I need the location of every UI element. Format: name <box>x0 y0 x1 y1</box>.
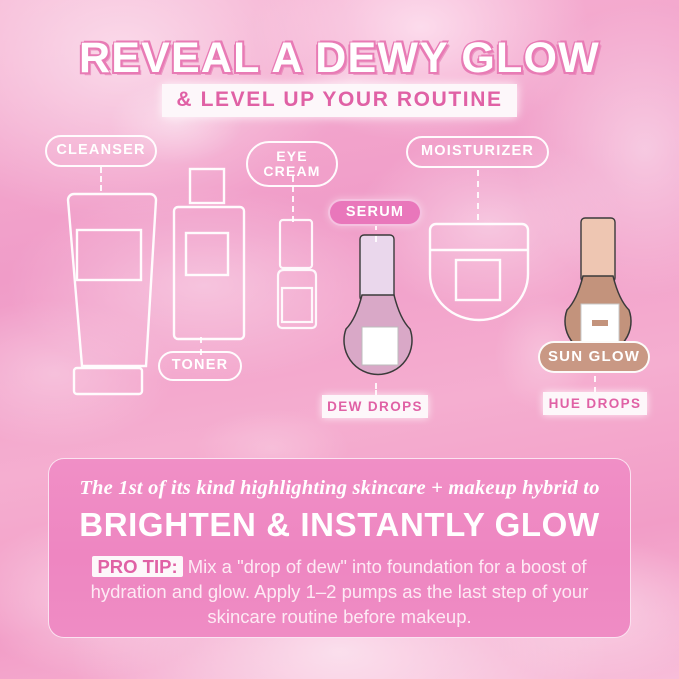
card-body: PRO TIP: Mix a "drop of dew" into founda… <box>75 555 604 629</box>
label-cleanser[interactable]: CLEANSER <box>45 135 157 167</box>
banner-hue-drops-text: HUE DROPS <box>549 396 642 411</box>
label-moisturizer-text: MOISTURIZER <box>421 144 534 159</box>
product-toner-bottle <box>168 167 254 347</box>
card-headline: BRIGHTEN & INSTANTLY GLOW <box>75 506 604 544</box>
label-moisturizer[interactable]: MOISTURIZER <box>406 136 549 168</box>
banner-dew-drops-text: DEW DROPS <box>327 399 423 414</box>
pro-tip-badge: PRO TIP: <box>92 556 182 577</box>
label-toner[interactable]: TONER <box>158 351 242 381</box>
connector-serum <box>375 224 377 242</box>
connector-hue-drops <box>594 376 596 393</box>
label-serum[interactable]: SERUM <box>328 199 422 226</box>
page-title: REVEAL A DEWY GLOW <box>0 34 679 83</box>
product-dew-drops-bottle <box>326 233 434 385</box>
poster-canvas: REVEAL A DEWY GLOW & LEVEL UP YOUR ROUTI… <box>0 0 679 679</box>
card-tagline: The 1st of its kind highlighting skincar… <box>75 477 604 500</box>
product-eye-cream-bottle <box>268 218 330 332</box>
page-subtitle: & LEVEL UP YOUR ROUTINE <box>162 84 516 117</box>
product-hue-drops-bottle <box>550 216 650 356</box>
label-sun-glow-text: SUN GLOW <box>548 349 640 365</box>
banner-hue-drops[interactable]: HUE DROPS <box>543 392 647 415</box>
label-sun-glow[interactable]: SUN GLOW <box>538 341 650 373</box>
label-eye-cream-line1: EYE <box>276 149 308 164</box>
banner-dew-drops[interactable]: DEW DROPS <box>322 395 428 418</box>
label-serum-text: SERUM <box>346 205 404 220</box>
product-moisturizer-jar <box>424 218 534 324</box>
connector-moisturizer <box>477 170 479 220</box>
info-card: The 1st of its kind highlighting skincar… <box>48 458 631 638</box>
label-toner-text: TONER <box>172 358 229 373</box>
label-eye-cream[interactable]: EYE CREAM <box>246 141 338 187</box>
product-cleanser-tube <box>52 182 172 398</box>
label-cleanser-text: CLEANSER <box>56 143 145 158</box>
connector-cleanser <box>100 167 102 191</box>
subtitle-banner-wrap: & LEVEL UP YOUR ROUTINE <box>0 84 679 117</box>
label-eye-cream-line2: CREAM <box>263 164 320 179</box>
